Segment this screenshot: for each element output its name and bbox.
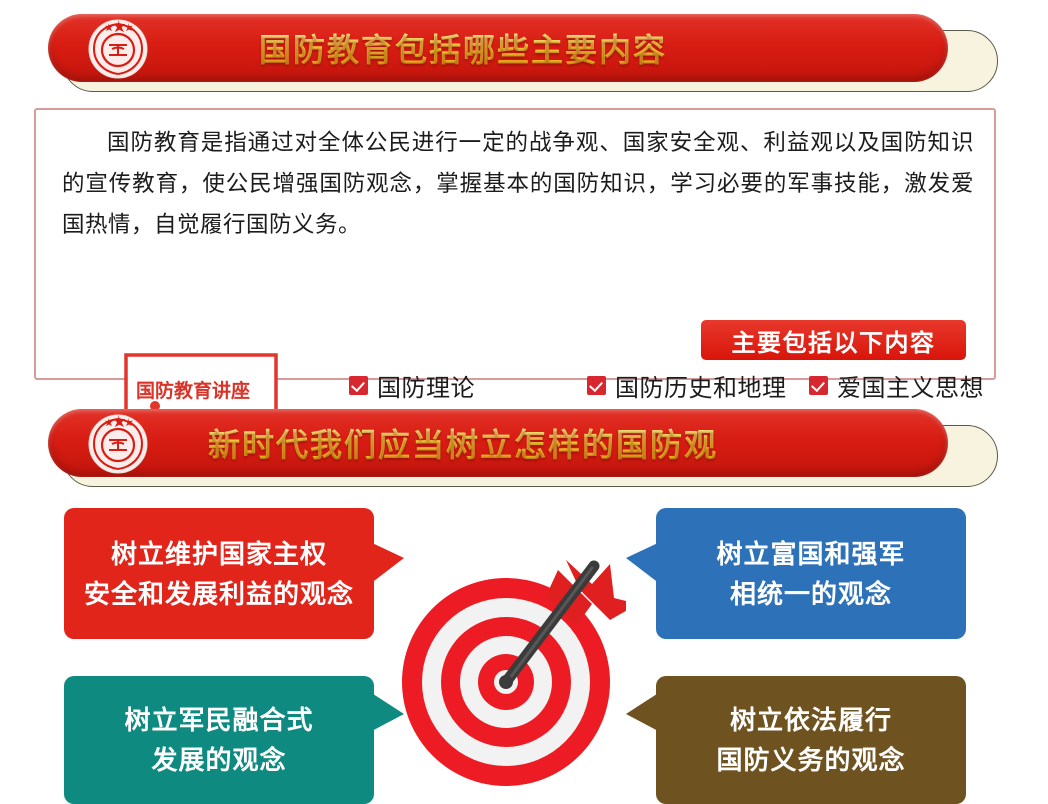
definition-content-box: 国防教育是指通过对全体公民进行一定的战争观、国家安全观、利益观以及国防知识的宣传… [34,108,996,380]
concept-card-line1: 树立军民融合式 [124,700,313,740]
main-contents-label: 主要包括以下内容 [701,320,966,360]
definition-paragraph: 国防教育是指通过对全体公民进行一定的战争观、国家安全观、利益观以及国防知识的宣传… [62,122,974,245]
checklist-item[interactable]: 爱国主义思想 [809,368,1017,403]
concept-card-line1: 树立维护国家主权 [111,534,327,574]
bubble-tail [626,692,660,732]
concept-card-line2: 安全和发展利益的观念 [84,574,354,614]
national-defense-emblem-icon [86,16,150,80]
banner-title-2: 新时代我们应当树立怎样的国防观 [48,420,948,466]
concept-card-line1: 树立依法履行 [730,700,892,740]
check-mark-icon [587,376,606,395]
bubble-tail [626,542,660,584]
concept-card-line2: 国防义务的观念 [716,740,905,780]
checklist-item[interactable]: 国防理论 [349,368,587,403]
svg-text:国防教育讲座: 国防教育讲座 [136,379,250,402]
concept-card-legal-duty[interactable]: 树立依法履行 国防义务的观念 [656,676,966,804]
checklist-item-label: 国防历史和地理 [615,368,787,403]
checklist-item-label: 国防理论 [377,368,475,403]
concept-card-line2: 相统一的观念 [730,574,892,614]
concept-card-civil-military-integration[interactable]: 树立军民融合式 发展的观念 [64,676,374,804]
banner-pill-1: 国防教育包括哪些主要内容 [48,14,948,82]
banner-title-1: 国防教育包括哪些主要内容 [48,25,948,71]
check-mark-icon [349,376,368,395]
banner-pill-2: 新时代我们应当树立怎样的国防观 [48,409,948,477]
checklist-item[interactable]: 国防历史和地理 [587,368,809,403]
concept-card-line2: 发展的观念 [151,740,286,780]
concept-card-line1: 树立富国和强军 [716,534,905,574]
concept-card-sovereignty[interactable]: 树立维护国家主权 安全和发展利益的观念 [64,508,374,639]
checklist-item-label: 爱国主义思想 [837,368,984,403]
check-mark-icon [809,376,828,395]
target-arrow-icon [398,542,626,792]
national-defense-emblem-icon [86,411,150,475]
concept-card-prosperity-military[interactable]: 树立富国和强军 相统一的观念 [656,508,966,639]
